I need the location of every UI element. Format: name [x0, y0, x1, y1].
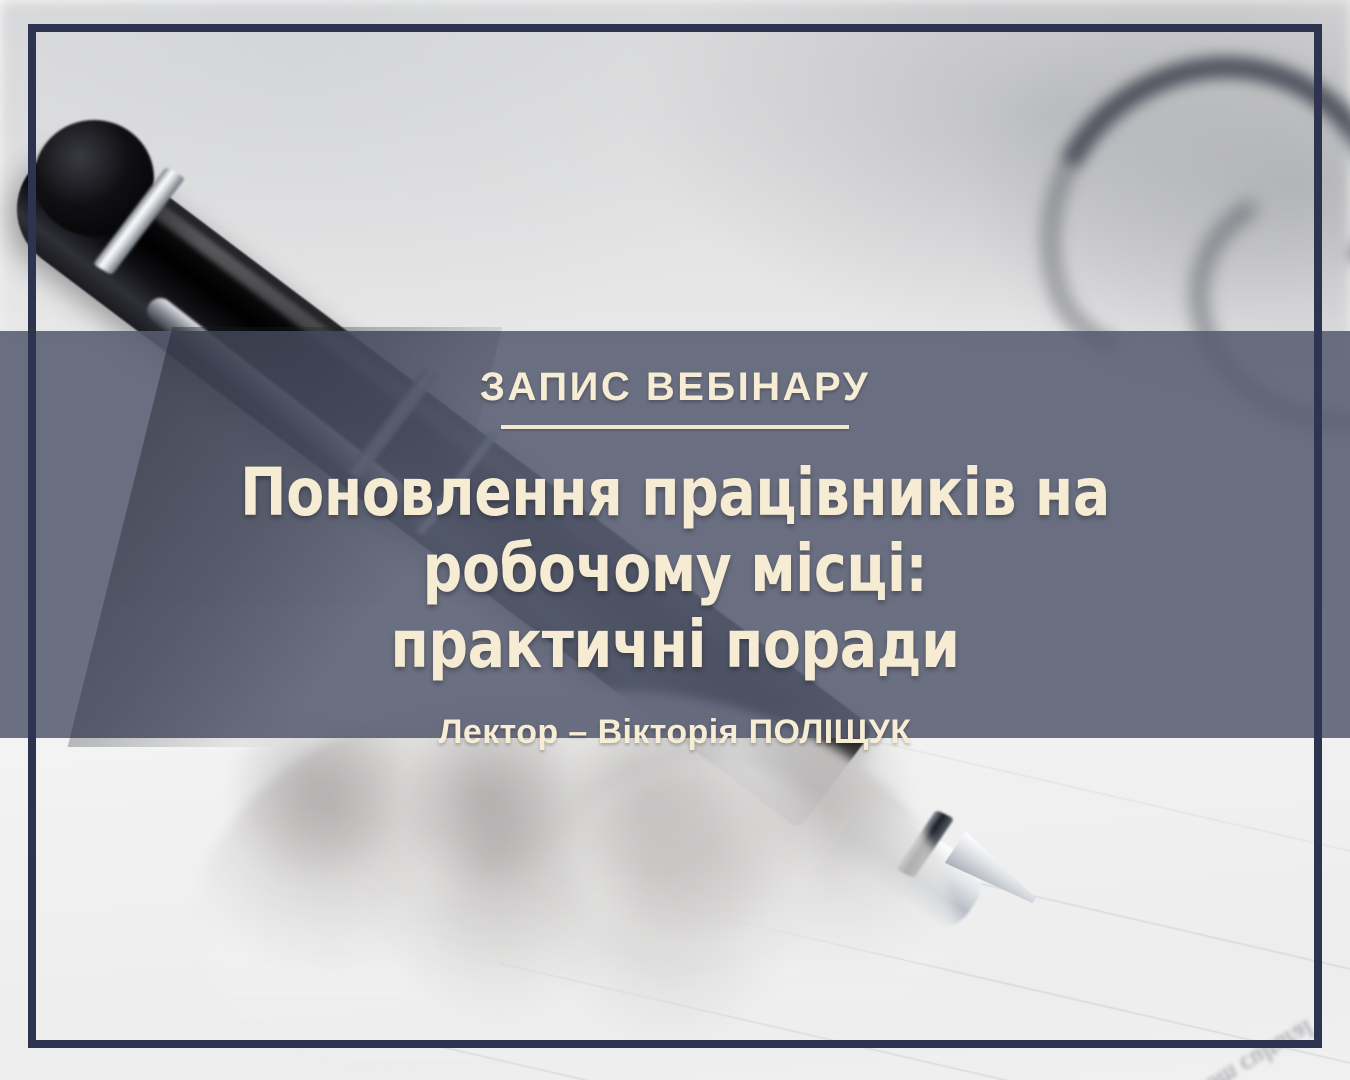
page-title-line-1: Поновлення працівників на робочому місці…: [133, 455, 1217, 607]
title-overlay-band: ЗАПИС ВЕБІНАРУ Поновлення працівників на…: [0, 331, 1350, 738]
lecturer-label: Лектор – Вікторія ПОЛІЩУК: [0, 713, 1350, 752]
kicker-label: ЗАПИС ВЕБІНАРУ: [0, 365, 1350, 410]
title-overlay-content: ЗАПИС ВЕБІНАРУ Поновлення працівників на…: [0, 331, 1350, 752]
kicker-underline: [501, 425, 849, 429]
webinar-poster: the efficient changes from cultural ЗАПИ…: [0, 0, 1350, 1080]
page-title-line-2: практичні поради: [133, 607, 1217, 683]
hand-thumb: [560, 760, 860, 990]
page-title: Поновлення працівників на робочому місці…: [108, 455, 1242, 683]
